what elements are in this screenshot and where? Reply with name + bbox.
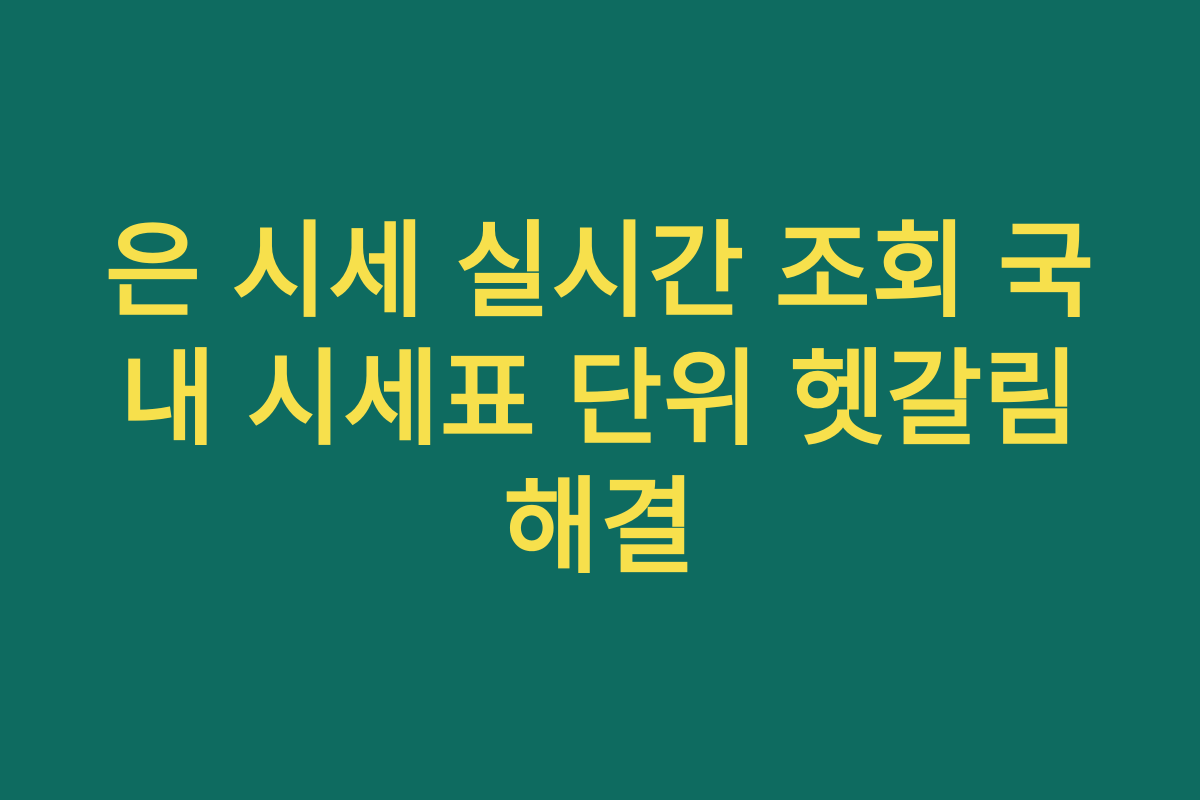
headline-line-3: 해결	[95, 464, 1105, 592]
headline-block: 은 시세 실시간 조회 국 내 시세표 단위 헷갈림 해결	[95, 208, 1105, 592]
headline-line-1: 은 시세 실시간 조회 국	[95, 208, 1105, 336]
banner-canvas: 은 시세 실시간 조회 국 내 시세표 단위 헷갈림 해결	[0, 0, 1200, 800]
headline-line-2: 내 시세표 단위 헷갈림	[95, 336, 1105, 464]
